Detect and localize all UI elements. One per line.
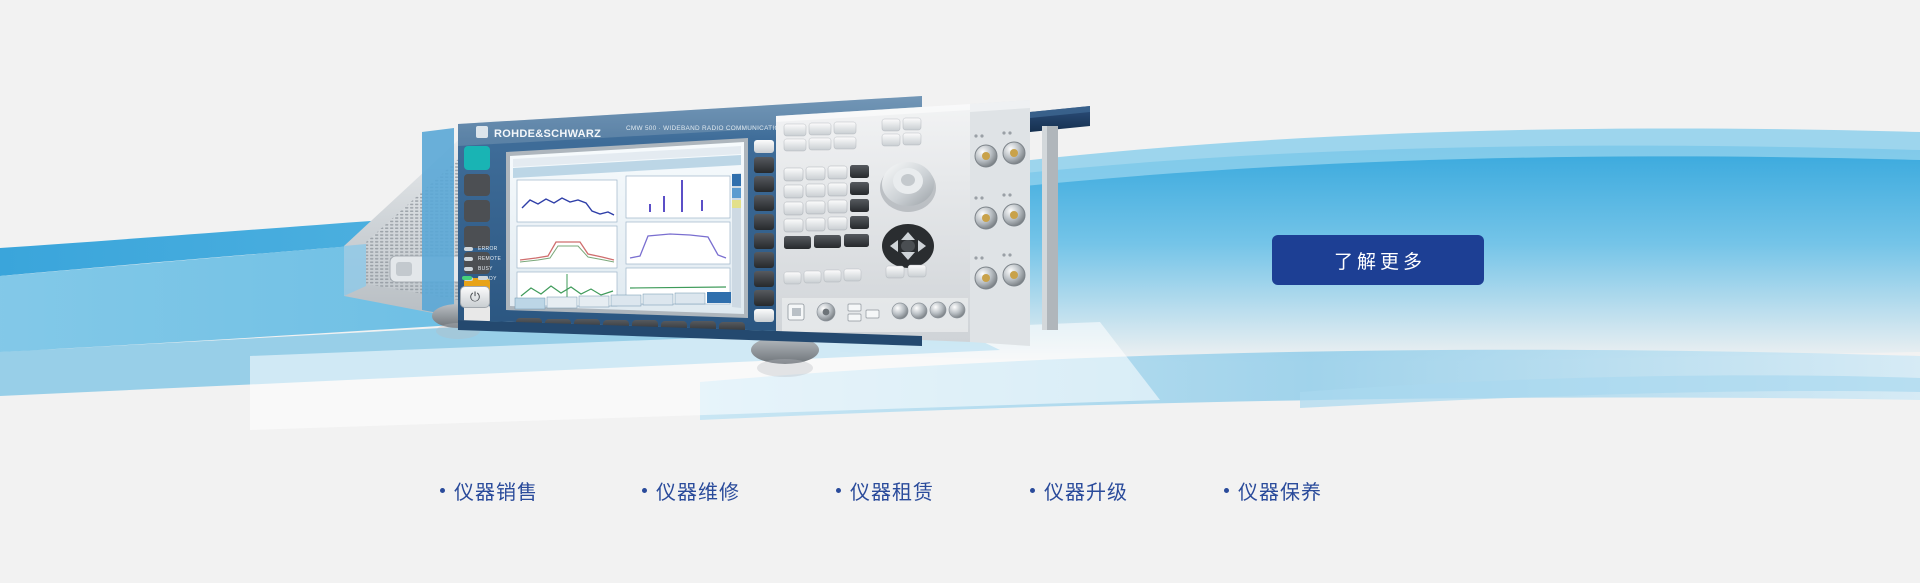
key-9[interactable] xyxy=(828,166,847,179)
bullet-icon xyxy=(440,488,445,493)
plot-adjacent-channel-power xyxy=(626,176,730,218)
aux-connector-1[interactable] xyxy=(892,303,908,319)
tab-stat-condition[interactable] xyxy=(547,297,577,308)
instrument-illustration: ROHDE&SCHWARZ CMW 500 · WIDEBAND RADIO C… xyxy=(330,60,1090,390)
fkey-2[interactable] xyxy=(809,123,831,135)
key-0[interactable] xyxy=(784,219,803,232)
io-port-strip[interactable] xyxy=(782,298,968,332)
rs-logo-icon xyxy=(476,126,488,138)
led-busy: BUSY xyxy=(464,266,534,272)
brand-text: ROHDE&SCHWARZ xyxy=(494,128,601,140)
instrument-cmw500: ROHDE&SCHWARZ CMW 500 · WIDEBAND RADIO C… xyxy=(330,60,1090,390)
rf-connector-panel xyxy=(970,100,1030,346)
nav-center-icon[interactable] xyxy=(901,240,915,252)
tab-blank-1[interactable] xyxy=(611,295,641,306)
fkey-8[interactable] xyxy=(903,118,921,130)
led-busy-icon xyxy=(464,267,473,271)
grey-key-1[interactable] xyxy=(784,272,801,284)
service-item-upgrade[interactable]: 仪器升级 xyxy=(1030,476,1128,505)
key-unit-s[interactable] xyxy=(850,199,869,212)
key-esc[interactable] xyxy=(844,234,869,247)
tab-blank-3[interactable] xyxy=(675,293,705,304)
bullet-icon xyxy=(642,488,647,493)
grey-key-6[interactable] xyxy=(908,265,926,277)
key-unit-v[interactable] xyxy=(850,216,869,229)
fkey-7[interactable] xyxy=(882,119,900,131)
fkey-3[interactable] xyxy=(834,122,856,134)
grey-key-2[interactable] xyxy=(804,271,821,283)
bullet-icon xyxy=(1030,488,1035,493)
key-8[interactable] xyxy=(806,167,825,180)
softkey-tasks[interactable] xyxy=(754,309,774,322)
menu-multi-eval[interactable] xyxy=(732,188,741,198)
key-5[interactable] xyxy=(806,184,825,197)
service-item-sales[interactable]: 仪器销售 xyxy=(440,476,538,505)
status-led-list: ERROR REMOTE BUSY READY xyxy=(464,246,534,282)
key-save-rcl[interactable] xyxy=(464,200,490,222)
key-unit-db[interactable] xyxy=(850,165,869,178)
side-softkey-5[interactable] xyxy=(754,233,774,249)
side-softkey-1[interactable] xyxy=(754,157,774,173)
grey-key-5[interactable] xyxy=(886,266,904,278)
key-setup[interactable] xyxy=(464,226,490,248)
key-3[interactable] xyxy=(828,200,847,213)
service-label-upgrade: 仪器升级 xyxy=(1044,476,1128,505)
side-softkey-2[interactable] xyxy=(754,176,774,192)
side-softkey-4[interactable] xyxy=(754,214,774,230)
tab-builtin-meas[interactable] xyxy=(579,296,609,307)
aux-connector-4[interactable] xyxy=(949,302,965,318)
usb-port-3[interactable] xyxy=(866,310,879,318)
display-assembly xyxy=(506,138,748,318)
fkey-5[interactable] xyxy=(809,138,831,150)
fkey-1[interactable] xyxy=(784,124,806,136)
fkey-6[interactable] xyxy=(834,137,856,149)
tab-config[interactable] xyxy=(707,292,731,303)
power-led-icon xyxy=(462,276,472,280)
key-unit-hz[interactable] xyxy=(850,182,869,195)
standby-led-icon xyxy=(478,276,488,280)
key-minus[interactable] xyxy=(828,217,847,230)
side-softkey-8[interactable] xyxy=(754,290,774,306)
led-error-icon xyxy=(464,247,473,251)
fkey-4[interactable] xyxy=(784,139,806,151)
carrying-handle[interactable] xyxy=(1030,106,1090,330)
service-item-rental[interactable]: 仪器租赁 xyxy=(836,476,934,505)
plot-iq xyxy=(626,222,730,264)
led-remote-icon xyxy=(464,257,473,261)
key-enter[interactable] xyxy=(814,235,841,248)
led-busy-label: BUSY xyxy=(478,266,493,272)
service-item-repair[interactable]: 仪器维修 xyxy=(642,476,740,505)
led-error: ERROR xyxy=(464,246,534,252)
hero-banner: ROHDE&SCHWARZ CMW 500 · WIDEBAND RADIO C… xyxy=(0,0,1920,583)
led-error-label: ERROR xyxy=(478,246,498,252)
bullet-icon xyxy=(836,488,841,493)
led-remote-label: REMOTE xyxy=(478,256,501,262)
service-list: 仪器销售 仪器维修 仪器租赁 仪器升级 仪器保养 xyxy=(440,470,1490,510)
key-2[interactable] xyxy=(806,201,825,214)
tab-amplitude[interactable] xyxy=(515,298,545,309)
usb-port-1[interactable] xyxy=(848,304,861,311)
menu-highlight[interactable] xyxy=(732,200,741,208)
power-button[interactable]: ⏻ xyxy=(460,286,490,308)
key-preset[interactable] xyxy=(464,174,490,196)
key-4[interactable] xyxy=(784,185,803,198)
navigation-pad[interactable] xyxy=(882,224,934,268)
service-label-maintenance: 仪器保养 xyxy=(1238,476,1322,505)
aux-connector-2[interactable] xyxy=(911,303,927,319)
screen-side-menu[interactable] xyxy=(732,173,741,308)
side-softkey-7[interactable] xyxy=(754,271,774,287)
tab-blank-2[interactable] xyxy=(643,294,673,305)
usb-port-2[interactable] xyxy=(848,314,861,321)
key-7[interactable] xyxy=(784,168,803,181)
side-softkey-3[interactable] xyxy=(754,195,774,211)
menu-select-meas[interactable] xyxy=(732,174,741,186)
aux-connector-3[interactable] xyxy=(930,302,946,318)
learn-more-button[interactable]: 了解更多 xyxy=(1272,235,1484,285)
led-remote: REMOTE xyxy=(464,256,534,262)
fkey-9[interactable] xyxy=(882,134,900,146)
service-item-maintenance[interactable]: 仪器保养 xyxy=(1224,476,1322,505)
service-label-sales: 仪器销售 xyxy=(454,476,538,505)
chassis-blue-trim xyxy=(422,128,454,316)
key-1[interactable] xyxy=(784,202,803,215)
bullet-icon xyxy=(1224,488,1229,493)
key-backspace[interactable] xyxy=(784,236,811,249)
fkey-10[interactable] xyxy=(903,133,921,145)
key-decimal[interactable] xyxy=(806,218,825,231)
side-softkey-6[interactable] xyxy=(754,252,774,268)
led-ready: READY xyxy=(464,276,534,282)
service-label-repair: 仪器维修 xyxy=(656,476,740,505)
grey-key-4[interactable] xyxy=(844,269,861,281)
softkey-menu[interactable] xyxy=(754,140,774,153)
service-label-rental: 仪器租赁 xyxy=(850,476,934,505)
grey-key-3[interactable] xyxy=(824,270,841,282)
key-6[interactable] xyxy=(828,183,847,196)
key-reset[interactable] xyxy=(464,146,490,170)
